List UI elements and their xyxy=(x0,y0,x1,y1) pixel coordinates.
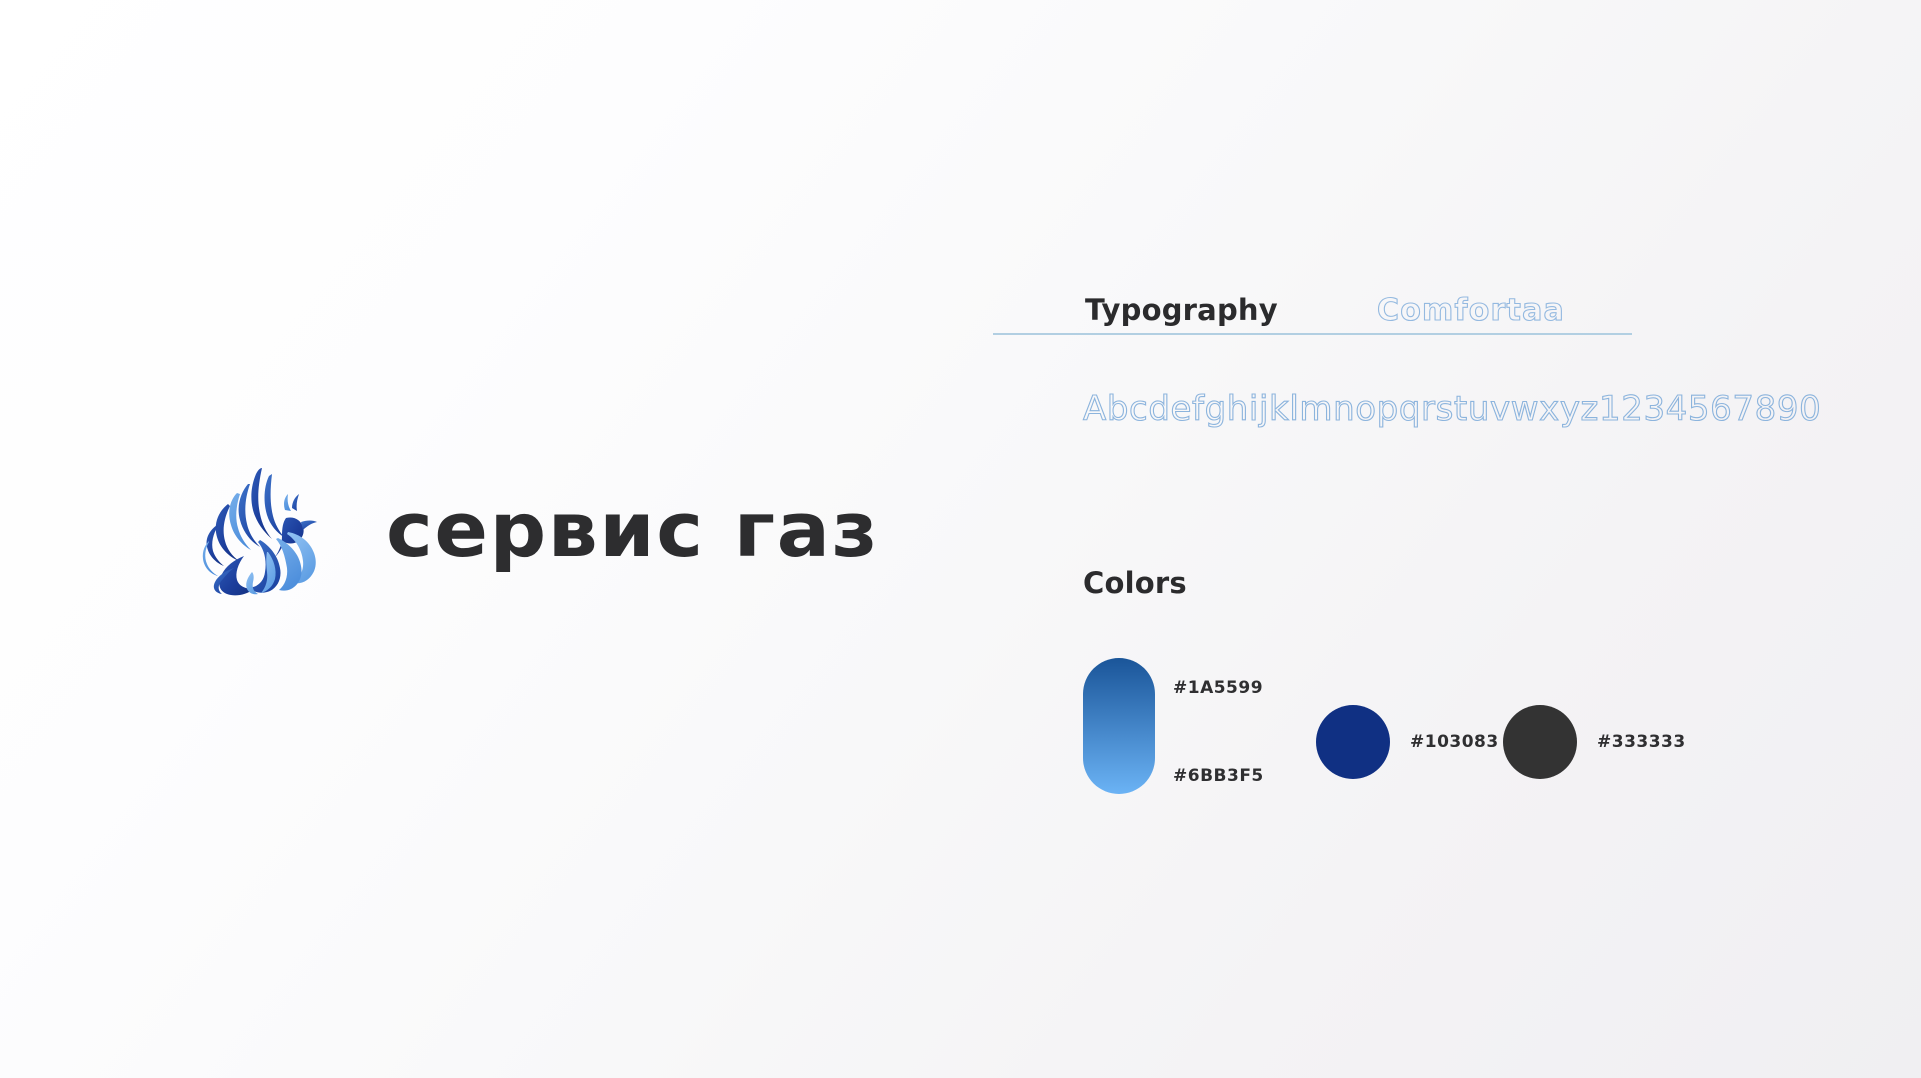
font-name-label: Comfortaa xyxy=(1377,292,1565,330)
brand-wordmark: сервис газ xyxy=(386,492,879,568)
colors-section: Colors #1A5599 #6BB3F5 #103083 #333333 xyxy=(1083,566,1803,601)
swatch-code-charcoal: #333333 xyxy=(1597,732,1686,752)
swatch-code-navy: #103083 xyxy=(1410,732,1499,752)
brand-style-guide-board: сервис газ Typography Comfortaa Abcdefgh… xyxy=(0,0,1921,1078)
swatch-charcoal-circle xyxy=(1503,705,1577,779)
swatch-navy-group: #103083 xyxy=(1316,705,1499,779)
swatch-charcoal-group: #333333 xyxy=(1503,705,1686,779)
colors-heading: Colors xyxy=(1083,566,1803,601)
phoenix-flame-icon xyxy=(200,460,330,600)
color-swatch-row: #1A5599 #6BB3F5 #103083 #333333 xyxy=(1083,658,1803,858)
swatch-gradient-pill xyxy=(1083,658,1155,794)
logo-lockup: сервис газ xyxy=(200,460,860,600)
swatch-code-gradient-top: #1A5599 xyxy=(1173,678,1263,698)
typography-divider-rule xyxy=(993,333,1632,335)
swatch-navy-circle xyxy=(1316,705,1390,779)
swatch-code-gradient-bottom: #6BB3F5 xyxy=(1173,766,1264,786)
typography-heading: Typography xyxy=(1085,292,1278,328)
alphabet-specimen: Abcdefghijklmnopqrstuvwxyz1234567890 xyxy=(1083,389,1821,429)
swatch-gradient-group: #1A5599 #6BB3F5 xyxy=(1083,658,1323,794)
gradient-labels: #1A5599 #6BB3F5 xyxy=(1173,658,1323,794)
